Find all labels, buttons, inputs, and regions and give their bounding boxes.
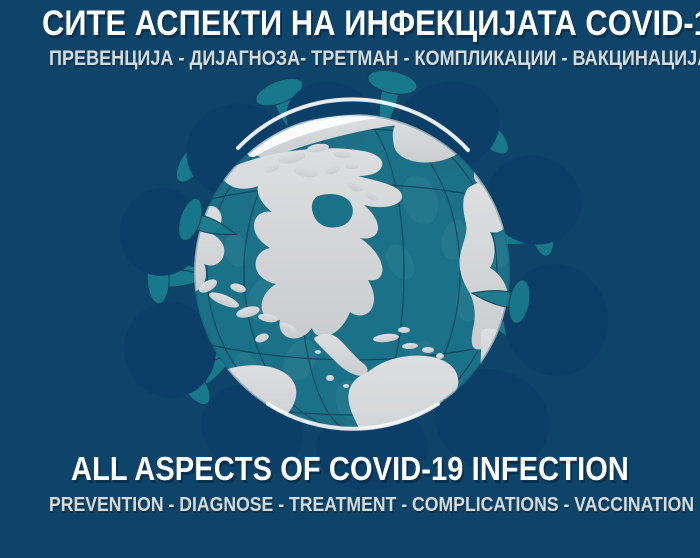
land-pacific-island-b [343, 384, 349, 388]
top-subline: ПРЕВЕНЦИЈА - ДИЈАГНОЗА- ТРЕТМАН - КОМПЛИ… [49, 47, 651, 71]
bottom-headline: ALL ASPECTS OF COVID-19 INFECTION [42, 452, 658, 486]
top-text-block: СИТЕ АСПЕКТИ НА ИНФЕКЦИЈАТА COVID-19 ПРЕ… [0, 6, 700, 71]
land-pacific-island-a [326, 375, 334, 381]
land-pacific-island-c [315, 350, 321, 354]
covid-poster: СИТЕ АСПЕКТИ НА ИНФЕКЦИЈАТА COVID-19 ПРЕ… [0, 0, 700, 558]
top-headline: СИТЕ АСПЕКТИ НА ИНФЕКЦИЈАТА COVID-19 [42, 6, 658, 42]
bottom-subline: PREVENTION - DIAGNOSE - TREATMENT - COMP… [49, 493, 651, 517]
bottom-text-block: ALL ASPECTS OF COVID-19 INFECTION PREVEN… [0, 452, 700, 516]
